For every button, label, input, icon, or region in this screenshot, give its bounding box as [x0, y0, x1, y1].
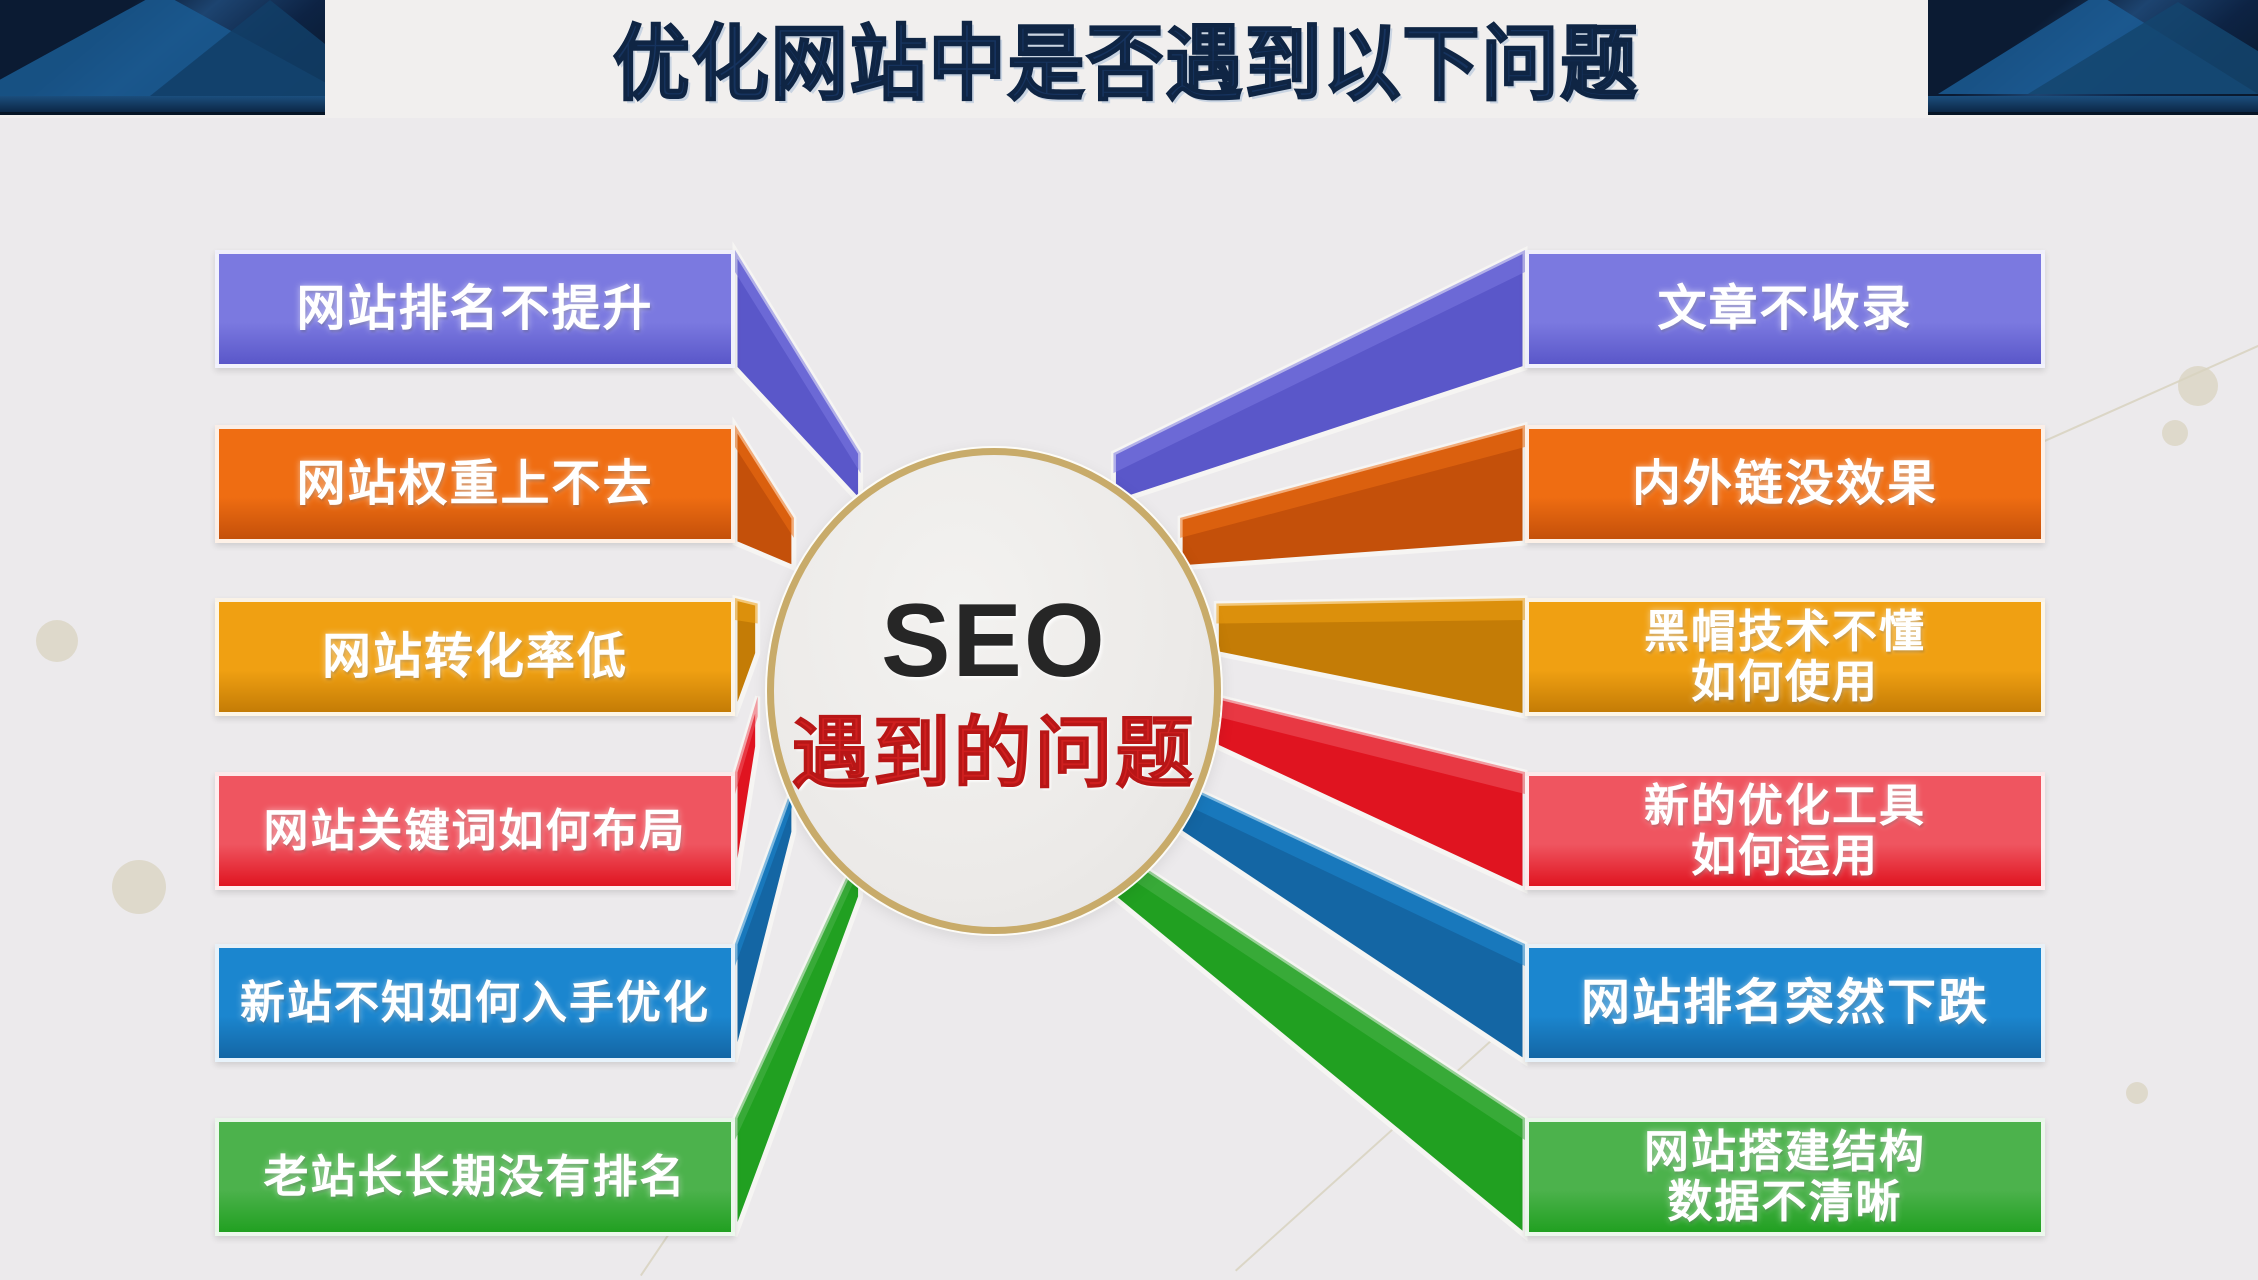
issue-card-right-6[interactable]: 网站搭建结构 数据不清晰: [1525, 1118, 2045, 1236]
issue-card-right-3[interactable]: 黑帽技术不懂 如何使用: [1525, 598, 2045, 716]
issue-card-left-2[interactable]: 网站权重上不去: [215, 425, 735, 543]
issue-card-label: 网站搭建结构 数据不清晰: [1644, 1127, 1926, 1228]
issue-card-label: 网站排名不提升: [296, 282, 653, 337]
issue-card-label: 网站转化率低: [322, 630, 628, 685]
infographic-canvas: 优化网站中是否遇到以下问题 网站排名不提升网站权重上不去网站转化率低网站关键词如…: [0, 0, 2258, 1280]
issue-card-label: 新的优化工具 如何运用: [1644, 781, 1926, 882]
issue-card-left-4[interactable]: 网站关键词如何布局: [215, 772, 735, 890]
issue-card-label: 内外链没效果: [1632, 457, 1938, 512]
issue-card-right-4[interactable]: 新的优化工具 如何运用: [1525, 772, 2045, 890]
issue-card-right-5[interactable]: 网站排名突然下跌: [1525, 944, 2045, 1062]
issue-card-right-1[interactable]: 文章不收录: [1525, 250, 2045, 368]
center-primary-label: SEO: [881, 589, 1107, 693]
issue-card-label: 新站不知如何入手优化: [240, 978, 710, 1028]
issue-card-label: 网站关键词如何布局: [263, 806, 686, 856]
issue-card-label: 文章不收录: [1657, 282, 1912, 337]
issue-card-left-3[interactable]: 网站转化率低: [215, 598, 735, 716]
issue-card-left-6[interactable]: 老站长长期没有排名: [215, 1118, 735, 1236]
issue-card-right-2[interactable]: 内外链没效果: [1525, 425, 2045, 543]
issue-card-label: 网站排名突然下跌: [1581, 976, 1989, 1031]
issue-card-label: 黑帽技术不懂 如何使用: [1644, 607, 1926, 708]
center-secondary-label: 遇到的问题: [791, 715, 1196, 793]
issue-card-label: 网站权重上不去: [296, 457, 653, 512]
issue-card-left-1[interactable]: 网站排名不提升: [215, 250, 735, 368]
issue-card-left-5[interactable]: 新站不知如何入手优化: [215, 944, 735, 1062]
center-circle: SEO 遇到的问题: [767, 448, 1221, 934]
issue-card-label: 老站长长期没有排名: [263, 1152, 686, 1202]
